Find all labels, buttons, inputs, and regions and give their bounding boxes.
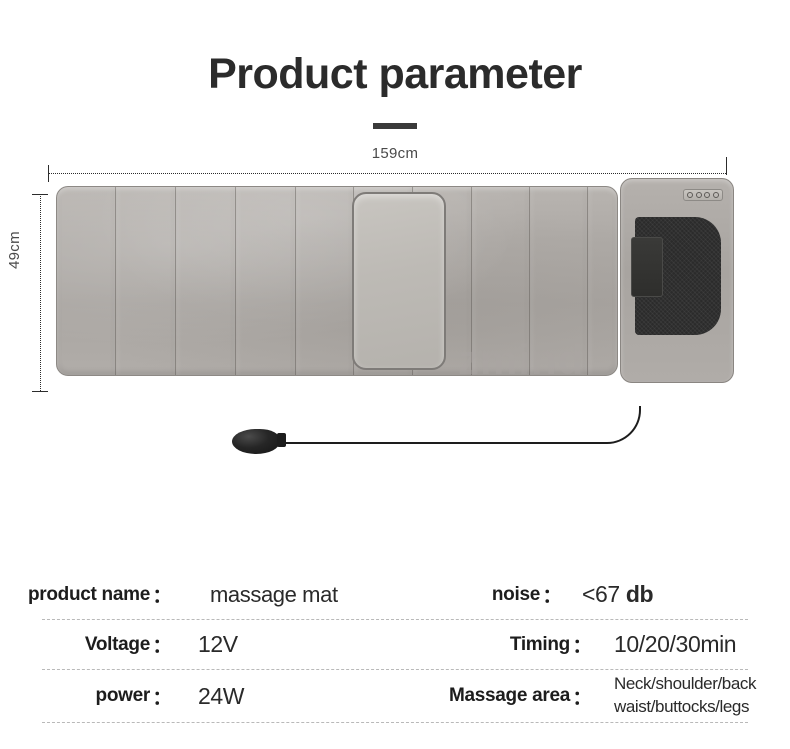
spec-colon: ：	[570, 631, 594, 658]
mat-main-body	[56, 186, 618, 376]
spec-cell-noise: noise ： <67 db	[395, 570, 790, 619]
height-dimension-tick-top	[32, 194, 48, 195]
spec-value-power: 24W	[198, 683, 244, 710]
height-dimension-line	[40, 194, 41, 391]
massage-area-line-1: Neck/shoulder/back	[614, 674, 756, 693]
mat-quilt-channel	[235, 187, 236, 375]
lumbar-pad	[352, 192, 446, 370]
mat-suede-texture	[57, 187, 617, 375]
spec-value-massage-area: Neck/shoulder/back waist/buttocks/legs	[614, 673, 756, 719]
mat-quilt-channel	[471, 187, 472, 375]
title-block: Product parameter	[0, 0, 790, 129]
control-label-badge	[683, 189, 723, 201]
mat-quilt-channel	[529, 187, 530, 375]
air-pump-bulb	[232, 429, 280, 454]
width-dimension-tick-left	[48, 165, 49, 182]
spec-value-voltage: 12V	[198, 631, 238, 658]
massage-area-line-2: waist/buttocks/legs	[614, 697, 749, 716]
mat-head-section	[620, 178, 734, 383]
massage-mat-image	[56, 178, 734, 383]
spec-label-product-name: product name	[0, 584, 150, 606]
spec-value-product-name: massage mat	[210, 582, 338, 608]
mat-quilt-channel	[587, 187, 588, 375]
spec-label-power: power	[0, 685, 150, 707]
spec-colon: ：	[570, 683, 594, 710]
spec-label-voltage: Voltage	[0, 634, 150, 656]
air-pump-valve	[277, 433, 286, 447]
width-dimension-label: 159cm	[0, 145, 790, 162]
title-underline-rule	[373, 123, 417, 129]
product-figure: 159cm 49cm	[0, 151, 790, 491]
spec-row-voltage: Voltage ： 12V Timing ： 10/20/30min	[0, 620, 790, 669]
mat-quilt-channel	[295, 187, 296, 375]
noise-unit: db	[626, 581, 653, 607]
spec-row-power: power ： 24W Massage area ： Neck/shoulder…	[0, 670, 790, 722]
spec-table: product name ： massage mat noise ： <67 d…	[0, 570, 790, 723]
air-pump-tube	[269, 406, 641, 444]
badge-dot-icon	[713, 192, 719, 198]
spec-colon: ：	[540, 581, 564, 608]
spec-colon: ：	[150, 581, 174, 608]
badge-dot-icon	[687, 192, 693, 198]
spec-cell-product-name: product name ： massage mat	[0, 570, 395, 619]
spec-label-timing: Timing	[395, 634, 570, 656]
spec-cell-voltage: Voltage ： 12V	[0, 620, 395, 669]
height-dimension-tick-bottom	[32, 391, 48, 392]
spec-row-product-name: product name ： massage mat noise ： <67 d…	[0, 570, 790, 619]
spec-value-noise: <67 db	[582, 581, 653, 608]
spec-label-noise: noise	[440, 584, 540, 606]
spec-cell-massage-area: Massage area ： Neck/shoulder/back waist/…	[395, 670, 790, 722]
badge-dot-icon	[696, 192, 702, 198]
spec-value-timing: 10/20/30min	[614, 631, 736, 658]
mat-quilt-channel	[115, 187, 116, 375]
height-dimension-label: 49cm	[6, 231, 23, 269]
spec-separator	[42, 722, 748, 723]
width-dimension-tick-right	[726, 157, 727, 175]
spec-colon: ：	[150, 631, 174, 658]
spec-cell-power: power ： 24W	[0, 670, 395, 722]
pocket-flap	[631, 237, 663, 297]
page-title: Product parameter	[0, 52, 790, 97]
spec-label-massage-area: Massage area	[395, 685, 570, 707]
mat-quilt-channel	[175, 187, 176, 375]
noise-number: <67	[582, 581, 626, 607]
badge-dot-icon	[704, 192, 710, 198]
spec-colon: ：	[150, 683, 174, 710]
spec-cell-timing: Timing ： 10/20/30min	[395, 620, 790, 669]
width-dimension-line	[48, 173, 726, 174]
